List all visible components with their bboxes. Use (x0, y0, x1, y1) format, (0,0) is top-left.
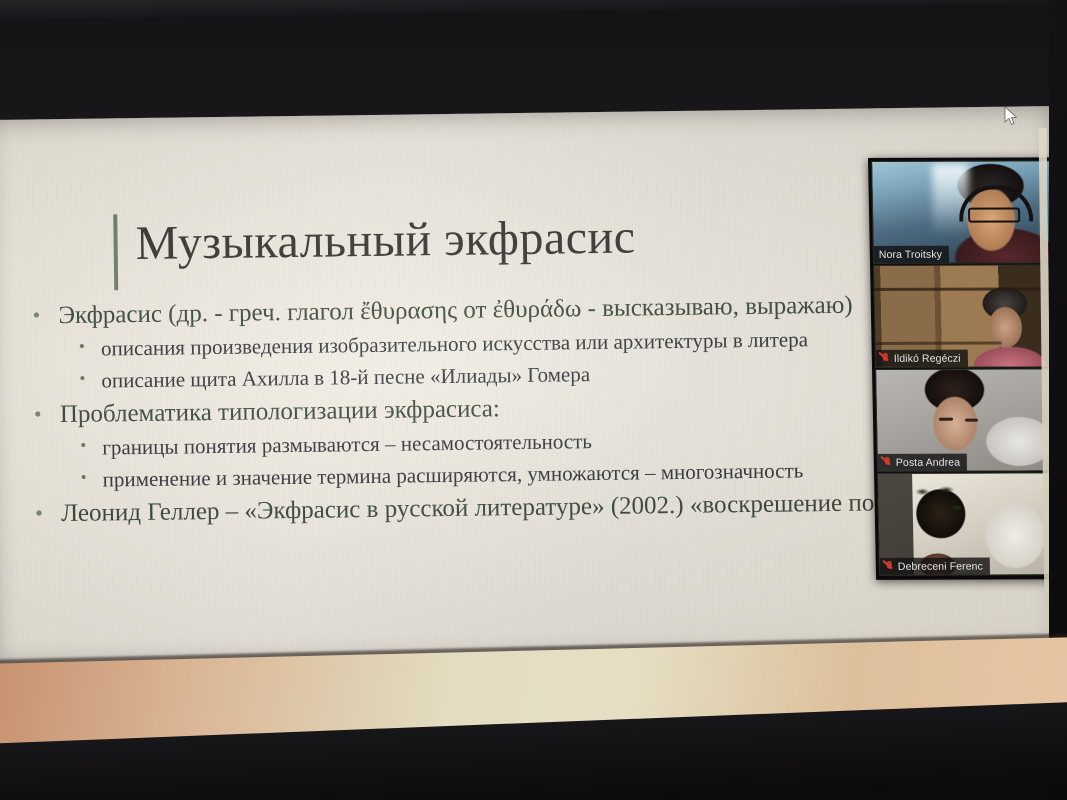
mic-muted-icon (881, 352, 890, 364)
participant-name: Nora Troitsky (879, 248, 942, 260)
participant-name: Posta Andrea (896, 456, 960, 468)
mic-muted-icon (883, 456, 892, 468)
participant-name-bar: Ildikó Regéczi (876, 350, 968, 367)
wardrobe-line (876, 342, 1002, 345)
participant-tile-posta-andrea[interactable]: Posta Andrea (875, 368, 1057, 472)
plant-decoration (912, 482, 965, 528)
participant-name-bar: Nora Troitsky (874, 246, 949, 263)
participant-name: Debreceni Ferenc (898, 560, 983, 572)
zoom-participant-strip[interactable]: Nora Troitsky Ildikó Regéczi Posta Andre… (868, 157, 1062, 580)
eyebrow-shape (965, 419, 978, 422)
participant-tile-nora-troitsky[interactable]: Nora Troitsky (871, 160, 1053, 264)
title-accent-bar (113, 214, 118, 290)
participant-name-bar: Debreceni Ferenc (880, 558, 990, 575)
participant-tile-debreceni-ferenc[interactable]: Debreceni Ferenc (877, 472, 1059, 576)
participant-tile-ildiko-regeczi[interactable]: Ildikó Regéczi (873, 264, 1055, 368)
eyebrow-shape (939, 418, 953, 421)
glasses-icon (968, 207, 1020, 222)
wardrobe-line (874, 287, 1054, 291)
mouse-pointer-icon (1004, 106, 1018, 126)
participant-name: Ildikó Regéczi (894, 352, 961, 364)
mic-muted-icon (885, 560, 894, 572)
participant-name-bar: Posta Andrea (878, 454, 968, 471)
screenshot-stage: Музыкальный экфрасис Экфрасис (др. - гре… (0, 0, 1067, 800)
slide-title: Музыкальный экфрасис (135, 208, 636, 275)
